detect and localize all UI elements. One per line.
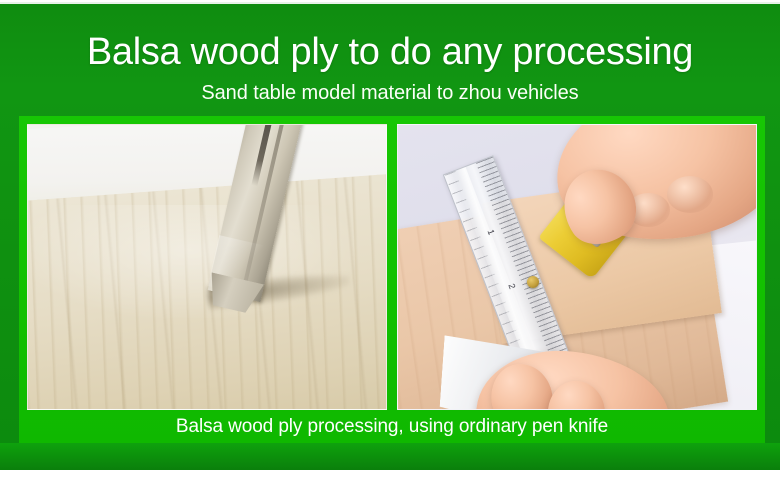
page-title: Balsa wood ply to do any processing: [0, 30, 780, 74]
knuckle-highlight-1: [667, 176, 714, 213]
gallery-caption: Balsa wood ply processing, using ordinar…: [19, 410, 765, 443]
poster-background: Balsa wood ply to do any processing Sand…: [0, 2, 780, 470]
page-bottom-margin: [0, 470, 780, 490]
poster-bottom-band: [0, 443, 780, 472]
photo-row: 1 2 4: [27, 124, 757, 410]
header-area: Balsa wood ply to do any processing Sand…: [0, 4, 780, 116]
product-banner: Balsa wood ply to do any processing Sand…: [0, 0, 780, 490]
photo-balsa-sheet-closeup[interactable]: [27, 124, 387, 410]
page-subtitle: Sand table model material to zhou vehicl…: [0, 80, 780, 106]
gallery-frame: 1 2 4: [19, 116, 765, 443]
ruler-screw: [527, 276, 539, 288]
photo-cutting-with-knife[interactable]: 1 2 4: [397, 124, 757, 410]
